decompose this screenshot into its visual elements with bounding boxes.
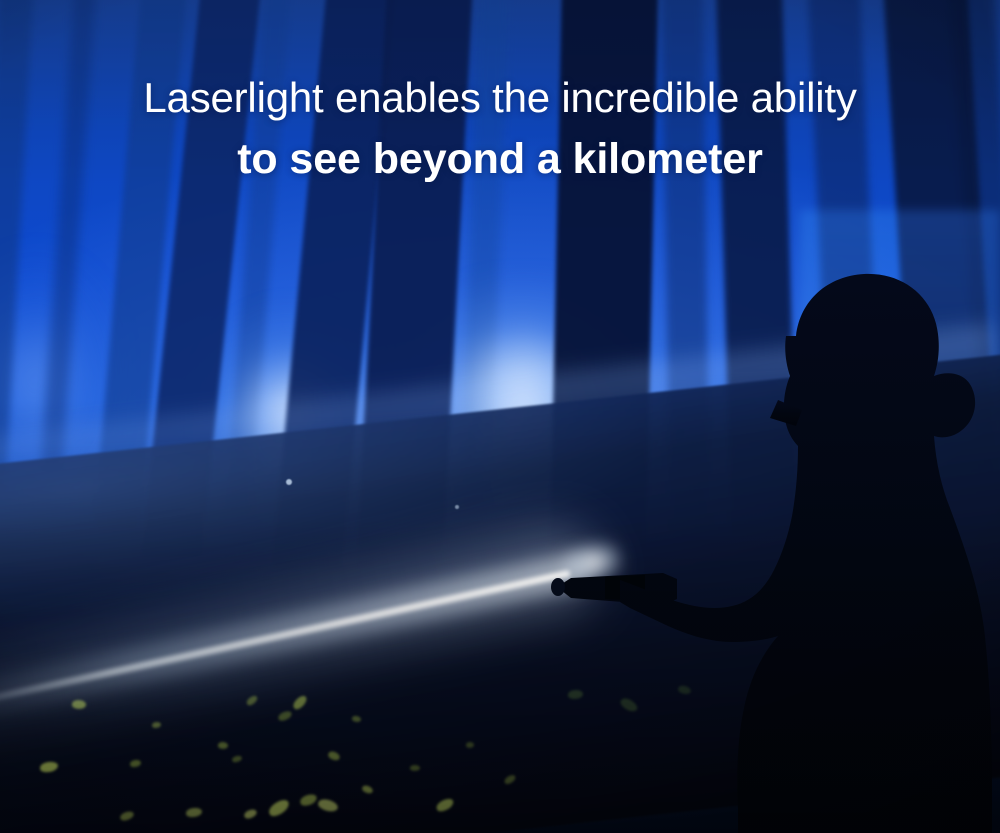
- person-silhouette: [620, 250, 1000, 833]
- laserlight-hero-banner: Laserlight enables the incredible abilit…: [0, 0, 1000, 833]
- light-sparkle: [455, 505, 459, 509]
- light-sparkle: [286, 479, 292, 485]
